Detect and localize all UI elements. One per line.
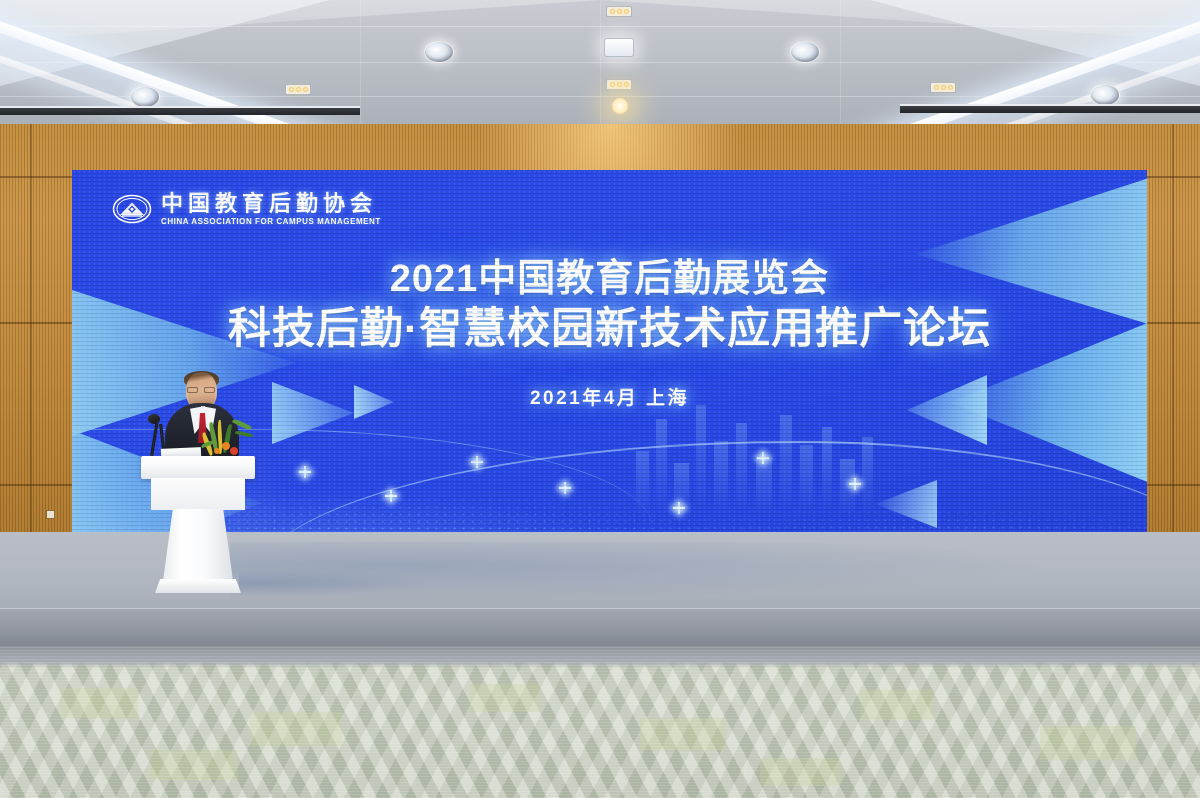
microphone-stand bbox=[150, 420, 159, 456]
sparkle-icon bbox=[476, 456, 478, 468]
projector-housing bbox=[604, 38, 634, 57]
downlight-icon bbox=[130, 86, 160, 108]
ceiling-rail-left bbox=[0, 106, 360, 115]
downlight-icon bbox=[1090, 84, 1120, 106]
floor-carpet bbox=[0, 646, 1200, 798]
wall-outlet bbox=[46, 510, 55, 519]
logo-chinese-name: 中国教育后勤协会 bbox=[161, 192, 381, 216]
ceiling-panel-line bbox=[600, 0, 601, 136]
triple-spotlight-icon bbox=[285, 84, 311, 95]
podium-top-surface bbox=[141, 456, 255, 479]
triple-spotlight-icon bbox=[606, 79, 632, 90]
conference-hall-scene: 中国教育后勤协会 CHINA ASSOCIATION FOR CAMPUS MA… bbox=[0, 0, 1200, 798]
sparkle-icon bbox=[564, 482, 566, 494]
triple-spotlight-icon bbox=[930, 82, 956, 93]
sparkle-icon bbox=[678, 502, 680, 514]
sparkle-icon bbox=[304, 466, 306, 478]
triple-spotlight-icon bbox=[606, 6, 632, 17]
association-emblem-icon bbox=[112, 194, 152, 224]
wave-dot-field-right bbox=[395, 405, 1148, 545]
downlight-icon bbox=[424, 41, 454, 63]
podium-base bbox=[155, 579, 241, 593]
sparkle-icon bbox=[390, 490, 392, 502]
ceiling-glow-light bbox=[612, 98, 628, 114]
logo-english-name: CHINA ASSOCIATION FOR CAMPUS MANAGEMENT bbox=[161, 217, 381, 226]
ceiling bbox=[0, 0, 1200, 136]
podium-column bbox=[163, 509, 233, 581]
sparkle-icon bbox=[854, 478, 856, 490]
ceiling-panel-line bbox=[360, 0, 361, 136]
podium-cast-shadow bbox=[239, 570, 429, 596]
association-logo: 中国教育后勤协会 CHINA ASSOCIATION FOR CAMPUS MA… bbox=[112, 192, 381, 226]
sparkle-icon bbox=[762, 452, 764, 464]
downlight-icon bbox=[790, 41, 820, 63]
glasses-icon bbox=[187, 387, 216, 394]
event-title-main: 2021中国教育后勤展览会 bbox=[72, 258, 1147, 301]
ceiling-rail-right bbox=[900, 104, 1200, 113]
logo-text-block: 中国教育后勤协会 CHINA ASSOCIATION FOR CAMPUS MA… bbox=[161, 192, 381, 226]
podium-upper-body bbox=[151, 478, 245, 510]
ceiling-panel-line bbox=[840, 0, 841, 136]
carpet-texture bbox=[0, 646, 1200, 798]
event-title-sub: 科技后勤·智慧校园新技术应用推广论坛 bbox=[72, 305, 1147, 353]
podium-group bbox=[139, 372, 257, 596]
stage-front-face bbox=[0, 608, 1200, 650]
